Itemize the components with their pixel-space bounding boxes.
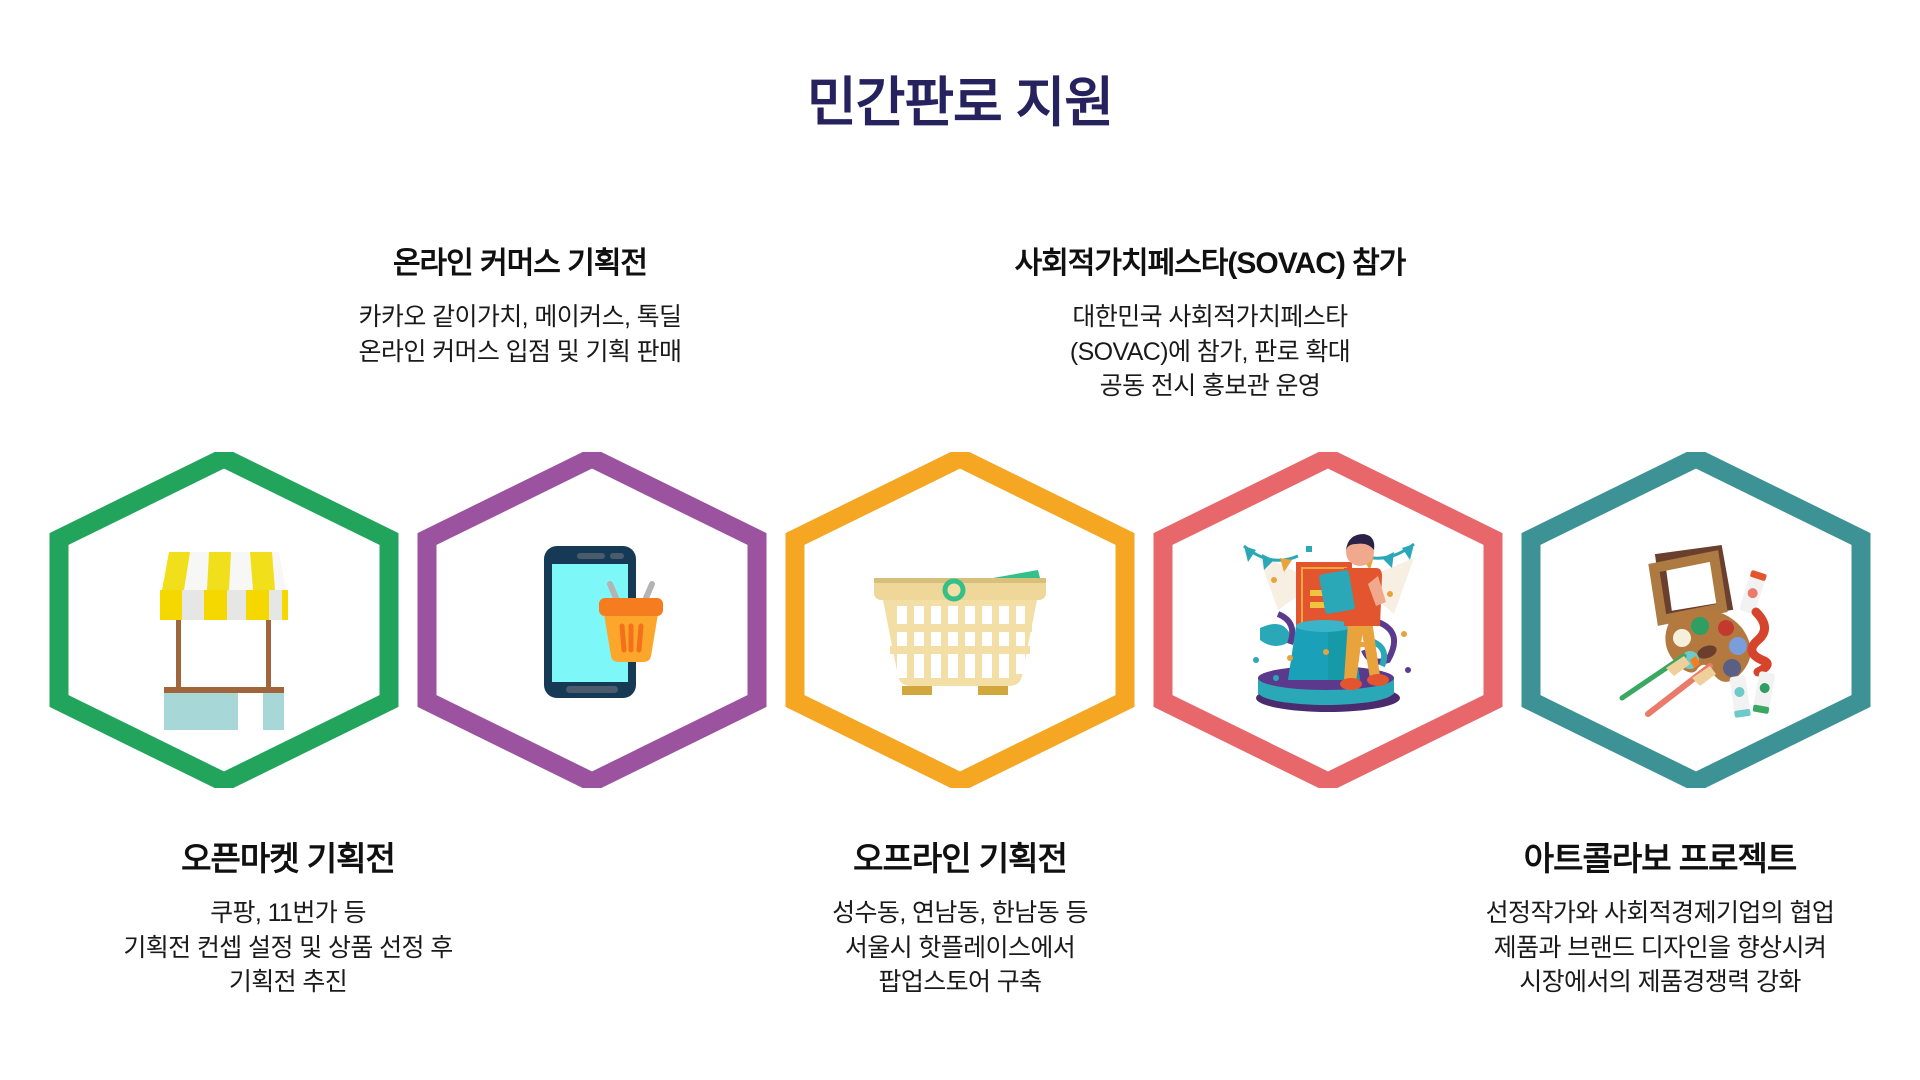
caption-line: 제품과 브랜드 디자인을 향상시켜 [1400, 931, 1920, 966]
caption-line: 대한민국 사회적가치페스타 [860, 300, 1560, 335]
caption-title: 오프라인 기획전 [700, 832, 1220, 880]
caption-line: 기획전 컨셉 설정 및 상품 선정 후 [28, 931, 548, 966]
caption-body: 쿠팡, 11번가 등 기획전 컨셉 설정 및 상품 선정 후 기획전 추진 [28, 896, 548, 1000]
caption-line: 시장에서의 제품경쟁력 강화 [1400, 965, 1920, 1000]
page-title: 민간판로 지원 [0, 58, 1920, 137]
grand-opening-person-icon [1218, 510, 1438, 730]
caption-title: 오픈마켓 기획전 [28, 832, 548, 880]
caption-body: 대한민국 사회적가치페스타 (SOVAC)에 참가, 판로 확대 공동 전시 홍… [860, 300, 1560, 404]
caption-online-commerce: 온라인 커머스 기획전 카카오 같이가치, 메이커스, 톡딜 온라인 커머스 입… [230, 238, 810, 369]
caption-open-market: 오픈마켓 기획전 쿠팡, 11번가 등 기획전 컨셉 설정 및 상품 선정 후 … [28, 832, 548, 1000]
caption-art-collabo: 아트콜라보 프로젝트 선정작가와 사회적경제기업의 협업 제품과 브랜드 디자인… [1400, 832, 1920, 1000]
infographic-page: 민간판로 지원 온라인 커머스 기획전 카카오 같이가치, 메이커스, 톡딜 온… [0, 0, 1920, 1080]
caption-line: 온라인 커머스 입점 및 기획 판매 [230, 335, 810, 370]
caption-sovac: 사회적가치페스타(SOVAC) 참가 대한민국 사회적가치페스타 (SOVAC)… [860, 238, 1560, 404]
hexagon-offline-exhibition [784, 452, 1136, 788]
hexagon-row [0, 452, 1920, 788]
hexagon-open-market [48, 452, 400, 788]
hexagon-sovac [1152, 452, 1504, 788]
caption-line: 성수동, 연남동, 한남동 등 [700, 896, 1220, 931]
caption-offline-exhibition: 오프라인 기획전 성수동, 연남동, 한남동 등 서울시 핫플레이스에서 팝업스… [700, 832, 1220, 1000]
caption-line: 쿠팡, 11번가 등 [28, 896, 548, 931]
caption-line: (SOVAC)에 참가, 판로 확대 [860, 335, 1560, 370]
caption-line: 선정작가와 사회적경제기업의 협업 [1400, 896, 1920, 931]
market-stall-icon [114, 510, 334, 730]
caption-line: 서울시 핫플레이스에서 [700, 931, 1220, 966]
caption-body: 카카오 같이가치, 메이커스, 톡딜 온라인 커머스 입점 및 기획 판매 [230, 300, 810, 369]
caption-line: 팝업스토어 구축 [700, 965, 1220, 1000]
caption-line: 카카오 같이가치, 메이커스, 톡딜 [230, 300, 810, 335]
caption-line: 공동 전시 홍보관 운영 [860, 369, 1560, 404]
hexagon-art-collabo [1520, 452, 1872, 788]
art-palette-icon [1586, 510, 1806, 730]
smartphone-shopping-basket-icon [482, 510, 702, 730]
caption-line: 기획전 추진 [28, 965, 548, 1000]
shopping-basket-icon [850, 510, 1070, 730]
caption-body: 성수동, 연남동, 한남동 등 서울시 핫플레이스에서 팝업스토어 구축 [700, 896, 1220, 1000]
hexagon-online-commerce [416, 452, 768, 788]
caption-title: 온라인 커머스 기획전 [230, 238, 810, 282]
caption-body: 선정작가와 사회적경제기업의 협업 제품과 브랜드 디자인을 향상시켜 시장에서… [1400, 896, 1920, 1000]
caption-title: 사회적가치페스타(SOVAC) 참가 [860, 238, 1560, 282]
caption-title: 아트콜라보 프로젝트 [1400, 832, 1920, 880]
